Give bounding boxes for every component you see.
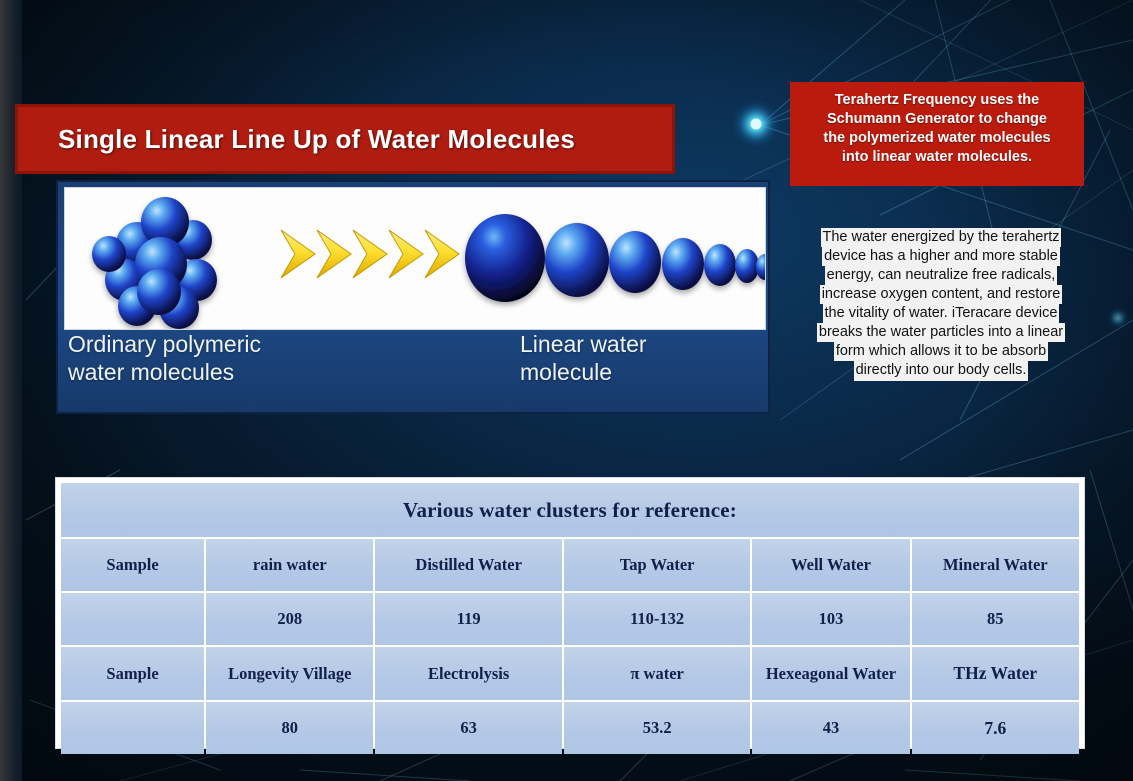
table-row: 208 119 110-132 103 85 xyxy=(61,593,1079,645)
callout-line-4: into linear water molecules. xyxy=(798,148,1076,167)
value2-cell-thz-water: 7.6 xyxy=(912,702,1079,754)
table-header-row: Sample rain water Distilled Water Tap Wa… xyxy=(61,539,1079,591)
note-line-2: device has a higher and more stable xyxy=(822,247,1060,266)
caption-ordinary-polymeric: Ordinary polymeric water molecules xyxy=(68,330,261,386)
header2-cell-hexagonal: Hexeagonal Water xyxy=(752,647,909,700)
table-header-row-2: Sample Longevity Village Electrolysis π … xyxy=(61,647,1079,700)
header2-cell-electrolysis: Electrolysis xyxy=(375,647,561,700)
caption-left-line1: Ordinary polymeric xyxy=(68,330,261,358)
value2-cell-electrolysis: 63 xyxy=(375,702,561,754)
caption-linear-water: Linear water molecule xyxy=(520,330,647,386)
header-cell-mineral-water: Mineral Water xyxy=(912,539,1079,591)
callout-line-3: the polymerized water molecules xyxy=(798,129,1076,148)
slide-canvas: Single Linear Line Up of Water Molecules xyxy=(0,0,1133,781)
water-clusters-table: Various water clusters for reference: Sa… xyxy=(55,477,1085,749)
diagram-card: Ordinary polymeric water molecules Linea… xyxy=(56,180,770,414)
title-banner: Single Linear Line Up of Water Molecules xyxy=(15,104,675,174)
caption-right-line2: molecule xyxy=(520,358,647,386)
water-energized-note: The water energized by the terahertz dev… xyxy=(791,228,1091,381)
header2-cell-longevity: Longevity Village xyxy=(206,647,373,700)
molecule-illustration-panel xyxy=(64,187,766,330)
value-cell-rain: 208 xyxy=(206,593,373,645)
page-title: Single Linear Line Up of Water Molecules xyxy=(58,124,575,155)
table-caption: Various water clusters for reference: xyxy=(61,483,1079,537)
linear-water-molecule-chain xyxy=(465,214,766,302)
header-cell-tap-water: Tap Water xyxy=(564,539,750,591)
value2-cell-pi-water: 53.2 xyxy=(564,702,750,754)
polymeric-water-cluster xyxy=(92,197,217,329)
header2-cell-sample: Sample xyxy=(61,647,204,700)
value-cell-tap: 110-132 xyxy=(564,593,750,645)
terahertz-callout-box: Terahertz Frequency uses the Schumann Ge… xyxy=(790,82,1084,186)
note-line-1: The water energized by the terahertz xyxy=(821,228,1062,247)
caption-left-line2: water molecules xyxy=(68,358,261,386)
callout-line-1: Terahertz Frequency uses the xyxy=(798,91,1076,110)
table-title-row: Various water clusters for reference: xyxy=(61,483,1079,537)
caption-right-line1: Linear water xyxy=(520,330,647,358)
note-line-7: form which allows it to be absorb xyxy=(834,342,1048,361)
header-cell-rain-water: rain water xyxy=(206,539,373,591)
value2-cell-longevity: 80 xyxy=(206,702,373,754)
value-cell-mineral: 85 xyxy=(912,593,1079,645)
header2-cell-pi-water: π water xyxy=(564,647,750,700)
value-cell-well: 103 xyxy=(752,593,909,645)
value-cell-distilled: 119 xyxy=(375,593,561,645)
callout-line-2: Schumann Generator to change xyxy=(798,110,1076,129)
note-line-5: the vitality of water. iTeracare device xyxy=(823,304,1060,323)
transformation-arrows xyxy=(281,230,459,278)
header2-cell-thz-water: THz Water xyxy=(912,647,1079,700)
table-row: 80 63 53.2 43 7.6 xyxy=(61,702,1079,754)
note-line-4: increase oxygen content, and restore xyxy=(820,285,1063,304)
header-cell-distilled: Distilled Water xyxy=(375,539,561,591)
molecule-illustration-svg xyxy=(65,188,766,330)
header-cell-sample: Sample xyxy=(61,539,204,591)
value2-cell-blank xyxy=(61,702,204,754)
note-line-8: directly into our body cells. xyxy=(854,361,1029,380)
value2-cell-hexagonal: 43 xyxy=(752,702,909,754)
header-cell-well-water: Well Water xyxy=(752,539,909,591)
note-line-3: energy, can neutralize free radicals, xyxy=(825,266,1058,285)
diagram-captions: Ordinary polymeric water molecules Linea… xyxy=(58,328,768,408)
note-line-6: breaks the water particles into a linear xyxy=(817,323,1065,342)
value-cell-blank-1 xyxy=(61,593,204,645)
